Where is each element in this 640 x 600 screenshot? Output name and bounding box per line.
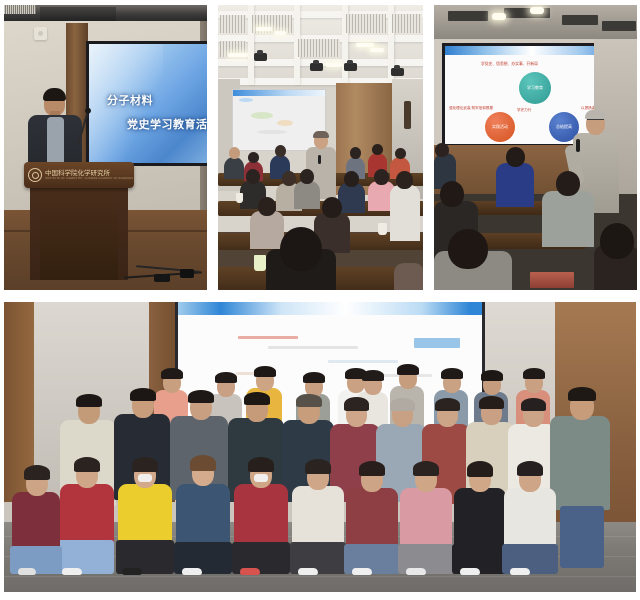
- ceiling-grille: [298, 39, 340, 57]
- slide-header-band: [178, 302, 482, 315]
- audience-member: [435, 143, 449, 157]
- group-member-back: [523, 368, 545, 379]
- group-member-front: [24, 465, 50, 480]
- cable-connector: [154, 274, 170, 282]
- slide-graphic: [277, 120, 293, 126]
- foreground-attendee-head: [600, 223, 634, 259]
- group-member-back: [362, 370, 384, 381]
- group-member-back: [215, 372, 237, 383]
- audience-member: [395, 148, 406, 159]
- ceiling-panel: [602, 21, 636, 31]
- audience-member: [350, 147, 361, 159]
- audience-member: [506, 147, 525, 167]
- slide-annotation-top: 学党史、悟思想、办实事、开新局: [481, 62, 538, 67]
- wall-art: [404, 101, 411, 129]
- group-member-front: [248, 457, 274, 472]
- projector-icon: [254, 53, 267, 61]
- audience-member: [224, 157, 244, 179]
- photo-panel-group: [4, 302, 636, 592]
- group-member-front: [352, 568, 372, 575]
- ceiling-light: [356, 43, 374, 47]
- group-member-middle: [244, 392, 270, 405]
- slide-graphic: [251, 112, 273, 119]
- audience-member: [229, 147, 240, 159]
- group-member-front: [517, 461, 543, 476]
- slide-bubble-left: 实践活动: [485, 112, 515, 142]
- slide-annotation-middle: 学史力行: [517, 108, 531, 113]
- group-member-front: [176, 484, 230, 546]
- ceiling-panel: [448, 11, 488, 21]
- group-member-front: [298, 568, 318, 575]
- ceiling-grille: [220, 15, 246, 33]
- group-member-front: [510, 568, 530, 575]
- ceiling-light: [228, 53, 248, 57]
- ceiling-vent: [4, 5, 36, 14]
- paper-cup: [236, 193, 243, 203]
- audience-member: [250, 211, 284, 249]
- projector-icon: [310, 63, 323, 71]
- group-member-front: [406, 568, 426, 575]
- slide-graphic: [257, 130, 287, 134]
- audience-member: [372, 144, 383, 155]
- group-member-back: [303, 372, 325, 383]
- ceiling-light: [492, 13, 506, 20]
- group-member-front: [346, 488, 398, 548]
- group-member-middle: [435, 398, 460, 411]
- speaker-hair: [585, 110, 606, 119]
- handheld-microphone-icon: [576, 139, 580, 152]
- red-booklet: [530, 272, 574, 288]
- group-member-front: [504, 488, 556, 548]
- photo-panel-speaker-diagram: 学党史、悟思想、办实事、开新局 学习教育 学史力行 实践活动 总结提高 强化理论…: [434, 5, 637, 290]
- ceiling-slab: [40, 7, 116, 21]
- group-member-middle: [188, 390, 214, 403]
- speaker-glasses-icon: [587, 119, 604, 124]
- group-member-front: [118, 484, 172, 544]
- group-member-middle: [76, 394, 102, 407]
- ceiling-light: [256, 27, 272, 31]
- drink-cup: [254, 255, 266, 271]
- audience-member: [390, 185, 420, 241]
- group-member-front: [454, 488, 506, 548]
- face-mask: [138, 474, 152, 482]
- ceiling-grille: [346, 14, 386, 33]
- projection-screen: 分子材料 党史学习教育活动: [89, 44, 207, 163]
- podium: 中国科学院化学研究所 INSTITUTE OF CHEMISTRY, CHINE…: [30, 162, 128, 280]
- audience-member: [282, 171, 296, 186]
- photo-panel-speaker-podium: 分子材料 党史学习教育活动 中国科学院化学研究所 INSTITUTE OF CH…: [4, 5, 207, 290]
- ceiling-light: [326, 63, 342, 67]
- projector-icon: [344, 63, 357, 71]
- slide-graphic: [238, 336, 298, 339]
- audience-member: [396, 171, 413, 189]
- cable-connector-secondary: [180, 269, 194, 278]
- podium-plaque-en: INSTITUTE OF CHEMISTRY, CHINESE ACADEMY …: [45, 177, 133, 180]
- group-member-front: [190, 455, 216, 471]
- speaker-hair: [43, 88, 66, 101]
- audience-member: [248, 152, 259, 163]
- group-member-middle: [521, 398, 546, 411]
- group-member-middle: [550, 416, 610, 510]
- group-member-back: [254, 366, 276, 377]
- slide-graphic: [328, 360, 398, 363]
- paper-cup: [378, 223, 387, 235]
- audience-member: [496, 163, 534, 207]
- group-member-middle: [568, 387, 596, 401]
- group-member-front: [182, 568, 202, 575]
- audience-member: [294, 181, 320, 209]
- group-member-middle: [130, 388, 156, 401]
- photo-panel-audience-wide: [218, 5, 423, 290]
- group-member-front: [62, 568, 82, 575]
- group-member-front: [460, 568, 480, 575]
- slide-header-band: [233, 90, 325, 96]
- group-member-middle: [390, 398, 415, 411]
- group-member-front: [400, 488, 452, 548]
- group-member-front: [12, 492, 60, 550]
- podium-body: [40, 186, 118, 280]
- group-member-back: [481, 370, 503, 381]
- slide-graphic: [414, 338, 460, 348]
- slide-bubble-top: 学习教育: [519, 72, 551, 104]
- projection-screen-frame: 分子材料 党史学习教育活动: [86, 41, 207, 166]
- photo-collage: 分子材料 党史学习教育活动 中国科学院化学研究所 INSTITUTE OF CH…: [0, 0, 640, 600]
- group-member-back: [161, 368, 183, 379]
- group-member-front: [18, 568, 36, 575]
- foreground-attendee-head: [280, 227, 322, 271]
- group-member-middle: [560, 506, 604, 568]
- group-member-front: [74, 457, 100, 472]
- ceiling-light: [274, 31, 286, 35]
- podium-plaque: 中国科学院化学研究所 INSTITUTE OF CHEMISTRY, CHINE…: [22, 166, 124, 184]
- slide-annotation-left: 强化理论武装 筑牢信仰根基: [449, 106, 493, 110]
- group-member-middle: [344, 397, 369, 411]
- group-member-front: [132, 457, 158, 472]
- smoke-detector-icon: [34, 27, 47, 40]
- projector-icon: [391, 68, 404, 76]
- audience-member: [344, 171, 359, 187]
- group-member-back: [441, 368, 463, 379]
- institute-emblem-icon: [28, 168, 42, 182]
- ceiling-light: [530, 7, 544, 14]
- slide-graphic: [268, 346, 358, 349]
- group-member-back: [397, 364, 419, 375]
- slide-graphic: [239, 98, 253, 102]
- foreground-attendee-head: [448, 229, 488, 269]
- ceiling-panel: [562, 15, 598, 25]
- audience-member: [440, 181, 464, 207]
- slide-title-line-1: 分子材料: [107, 92, 153, 108]
- group-member-front: [292, 486, 344, 546]
- audience-member: [300, 169, 314, 184]
- foreground-attendee: [394, 263, 423, 290]
- audience-member: [258, 197, 276, 216]
- audience-member: [322, 197, 342, 218]
- audience-member: [556, 171, 580, 196]
- group-member-middle: [479, 396, 504, 409]
- podium-top: 中国科学院化学研究所 INSTITUTE OF CHEMISTRY, CHINE…: [24, 162, 134, 188]
- audience-member: [275, 145, 286, 157]
- group-member-front: [60, 484, 114, 546]
- projection-screen: [232, 89, 326, 151]
- group-member-front: [234, 484, 288, 546]
- group-member-front: [240, 568, 260, 575]
- group-member-front: [467, 461, 493, 477]
- group-member-front: [305, 459, 331, 474]
- carpet-seam: [4, 576, 636, 577]
- ceiling-light: [370, 48, 384, 52]
- speaker-hair: [313, 131, 329, 138]
- face-mask: [254, 474, 268, 482]
- audience-member: [246, 169, 260, 184]
- group-member-front: [359, 461, 385, 476]
- group-member-front: [122, 568, 142, 575]
- audience-member: [374, 169, 389, 185]
- slide-title-line-2: 党史学习教育活动: [127, 116, 207, 132]
- audience-member: [338, 183, 365, 213]
- audience-member: [542, 191, 594, 247]
- handheld-microphone-icon: [318, 155, 321, 164]
- group-member-middle: [296, 394, 322, 407]
- ceiling-grille: [392, 14, 422, 33]
- group-member-front: [413, 461, 439, 476]
